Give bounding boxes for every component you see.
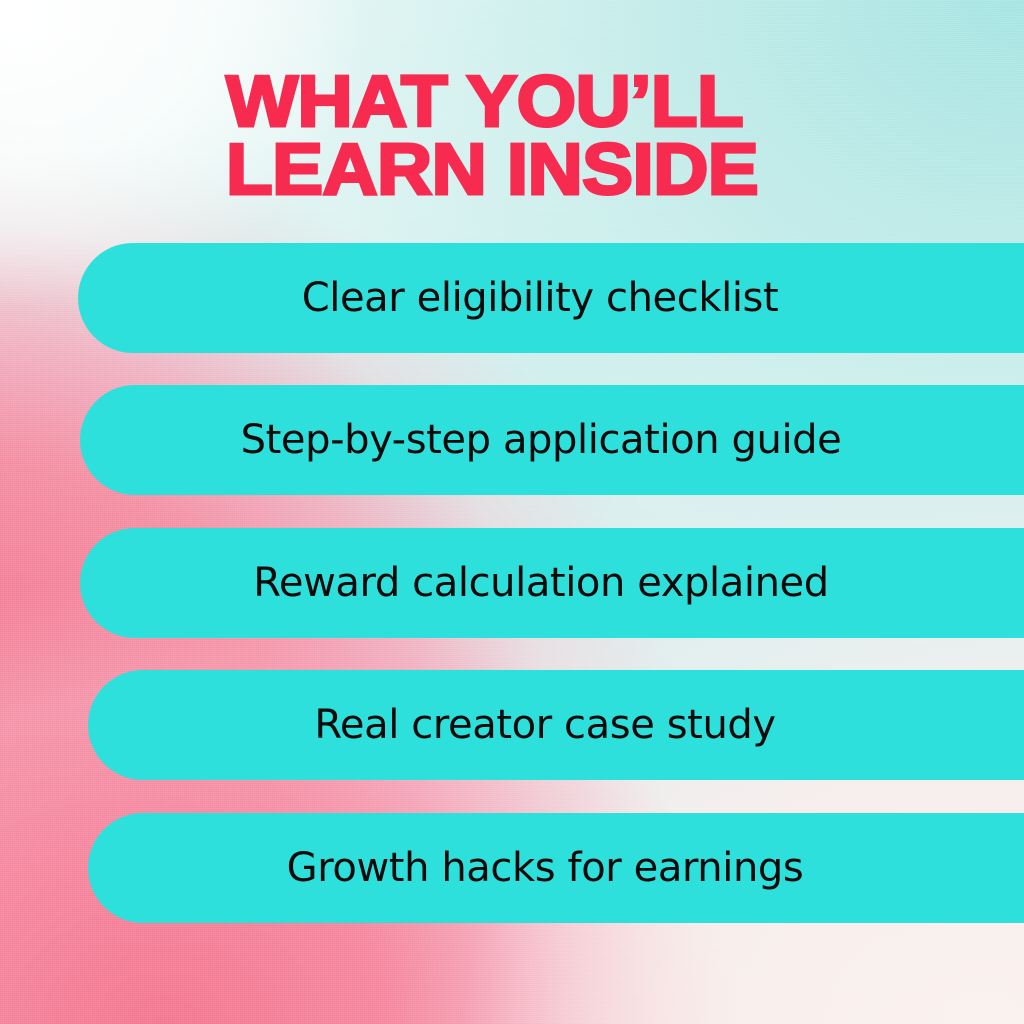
promo-graphic-canvas: WHAT YOU’LL LEARN INSIDE Clear eligibili… [0,0,1024,1024]
list-item[interactable]: Reward calculation explained [80,528,1024,638]
list-item[interactable]: Clear eligibility checklist [78,243,1024,353]
page-title-line-1: WHAT YOU’LL [226,68,989,136]
list-item-label: Real creator case study [314,702,775,748]
list-item-label: Clear eligibility checklist [302,275,779,321]
list-item-label: Reward calculation explained [253,560,828,606]
list-item[interactable]: Growth hacks for earnings [88,813,1024,923]
page-title: WHAT YOU’LL LEARN INSIDE [226,68,946,204]
page-title-line-2: LEARN INSIDE [226,136,989,204]
list-item-label: Step-by-step application guide [241,417,842,463]
list-item[interactable]: Real creator case study [88,670,1024,780]
list-item[interactable]: Step-by-step application guide [80,385,1024,495]
list-item-label: Growth hacks for earnings [287,845,804,891]
